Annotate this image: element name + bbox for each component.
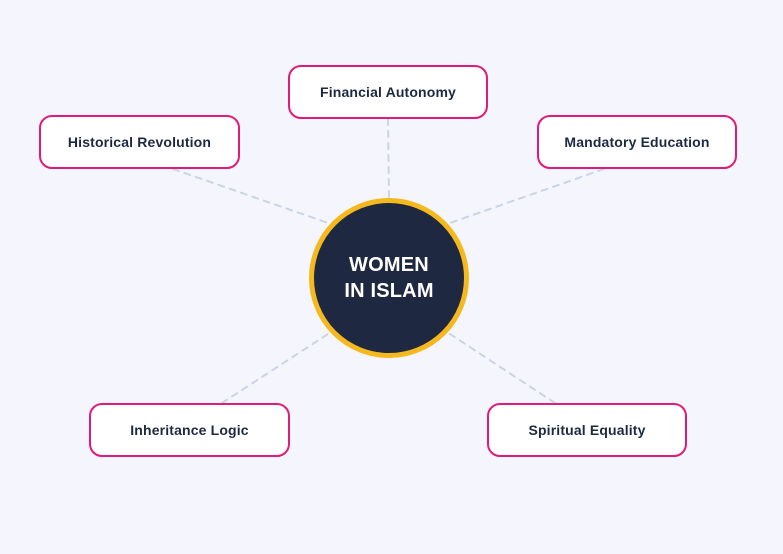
connector-inheritance-logic [222, 332, 331, 403]
connector-mandatory-education [447, 169, 604, 224]
node-mandatory-education[interactable]: Mandatory Education [537, 115, 737, 169]
node-label-historical-revolution: Historical Revolution [58, 134, 221, 150]
connector-spiritual-equality [447, 332, 555, 403]
node-historical-revolution[interactable]: Historical Revolution [39, 115, 240, 169]
node-label-mandatory-education: Mandatory Education [554, 134, 719, 150]
node-financial-autonomy[interactable]: Financial Autonomy [288, 65, 488, 119]
node-spiritual-equality[interactable]: Spiritual Equality [487, 403, 687, 457]
node-label-inheritance-logic: Inheritance Logic [120, 422, 258, 438]
connector-financial-autonomy [388, 119, 389, 198]
mindmap-canvas: WOMEN IN ISLAM Financial Autonomy Histor… [0, 0, 783, 554]
node-label-financial-autonomy: Financial Autonomy [310, 84, 466, 100]
node-label-spiritual-equality: Spiritual Equality [518, 422, 655, 438]
center-node[interactable]: WOMEN IN ISLAM [309, 198, 469, 358]
connector-historical-revolution [173, 169, 331, 224]
node-inheritance-logic[interactable]: Inheritance Logic [89, 403, 290, 457]
center-node-label: WOMEN IN ISLAM [344, 252, 433, 305]
